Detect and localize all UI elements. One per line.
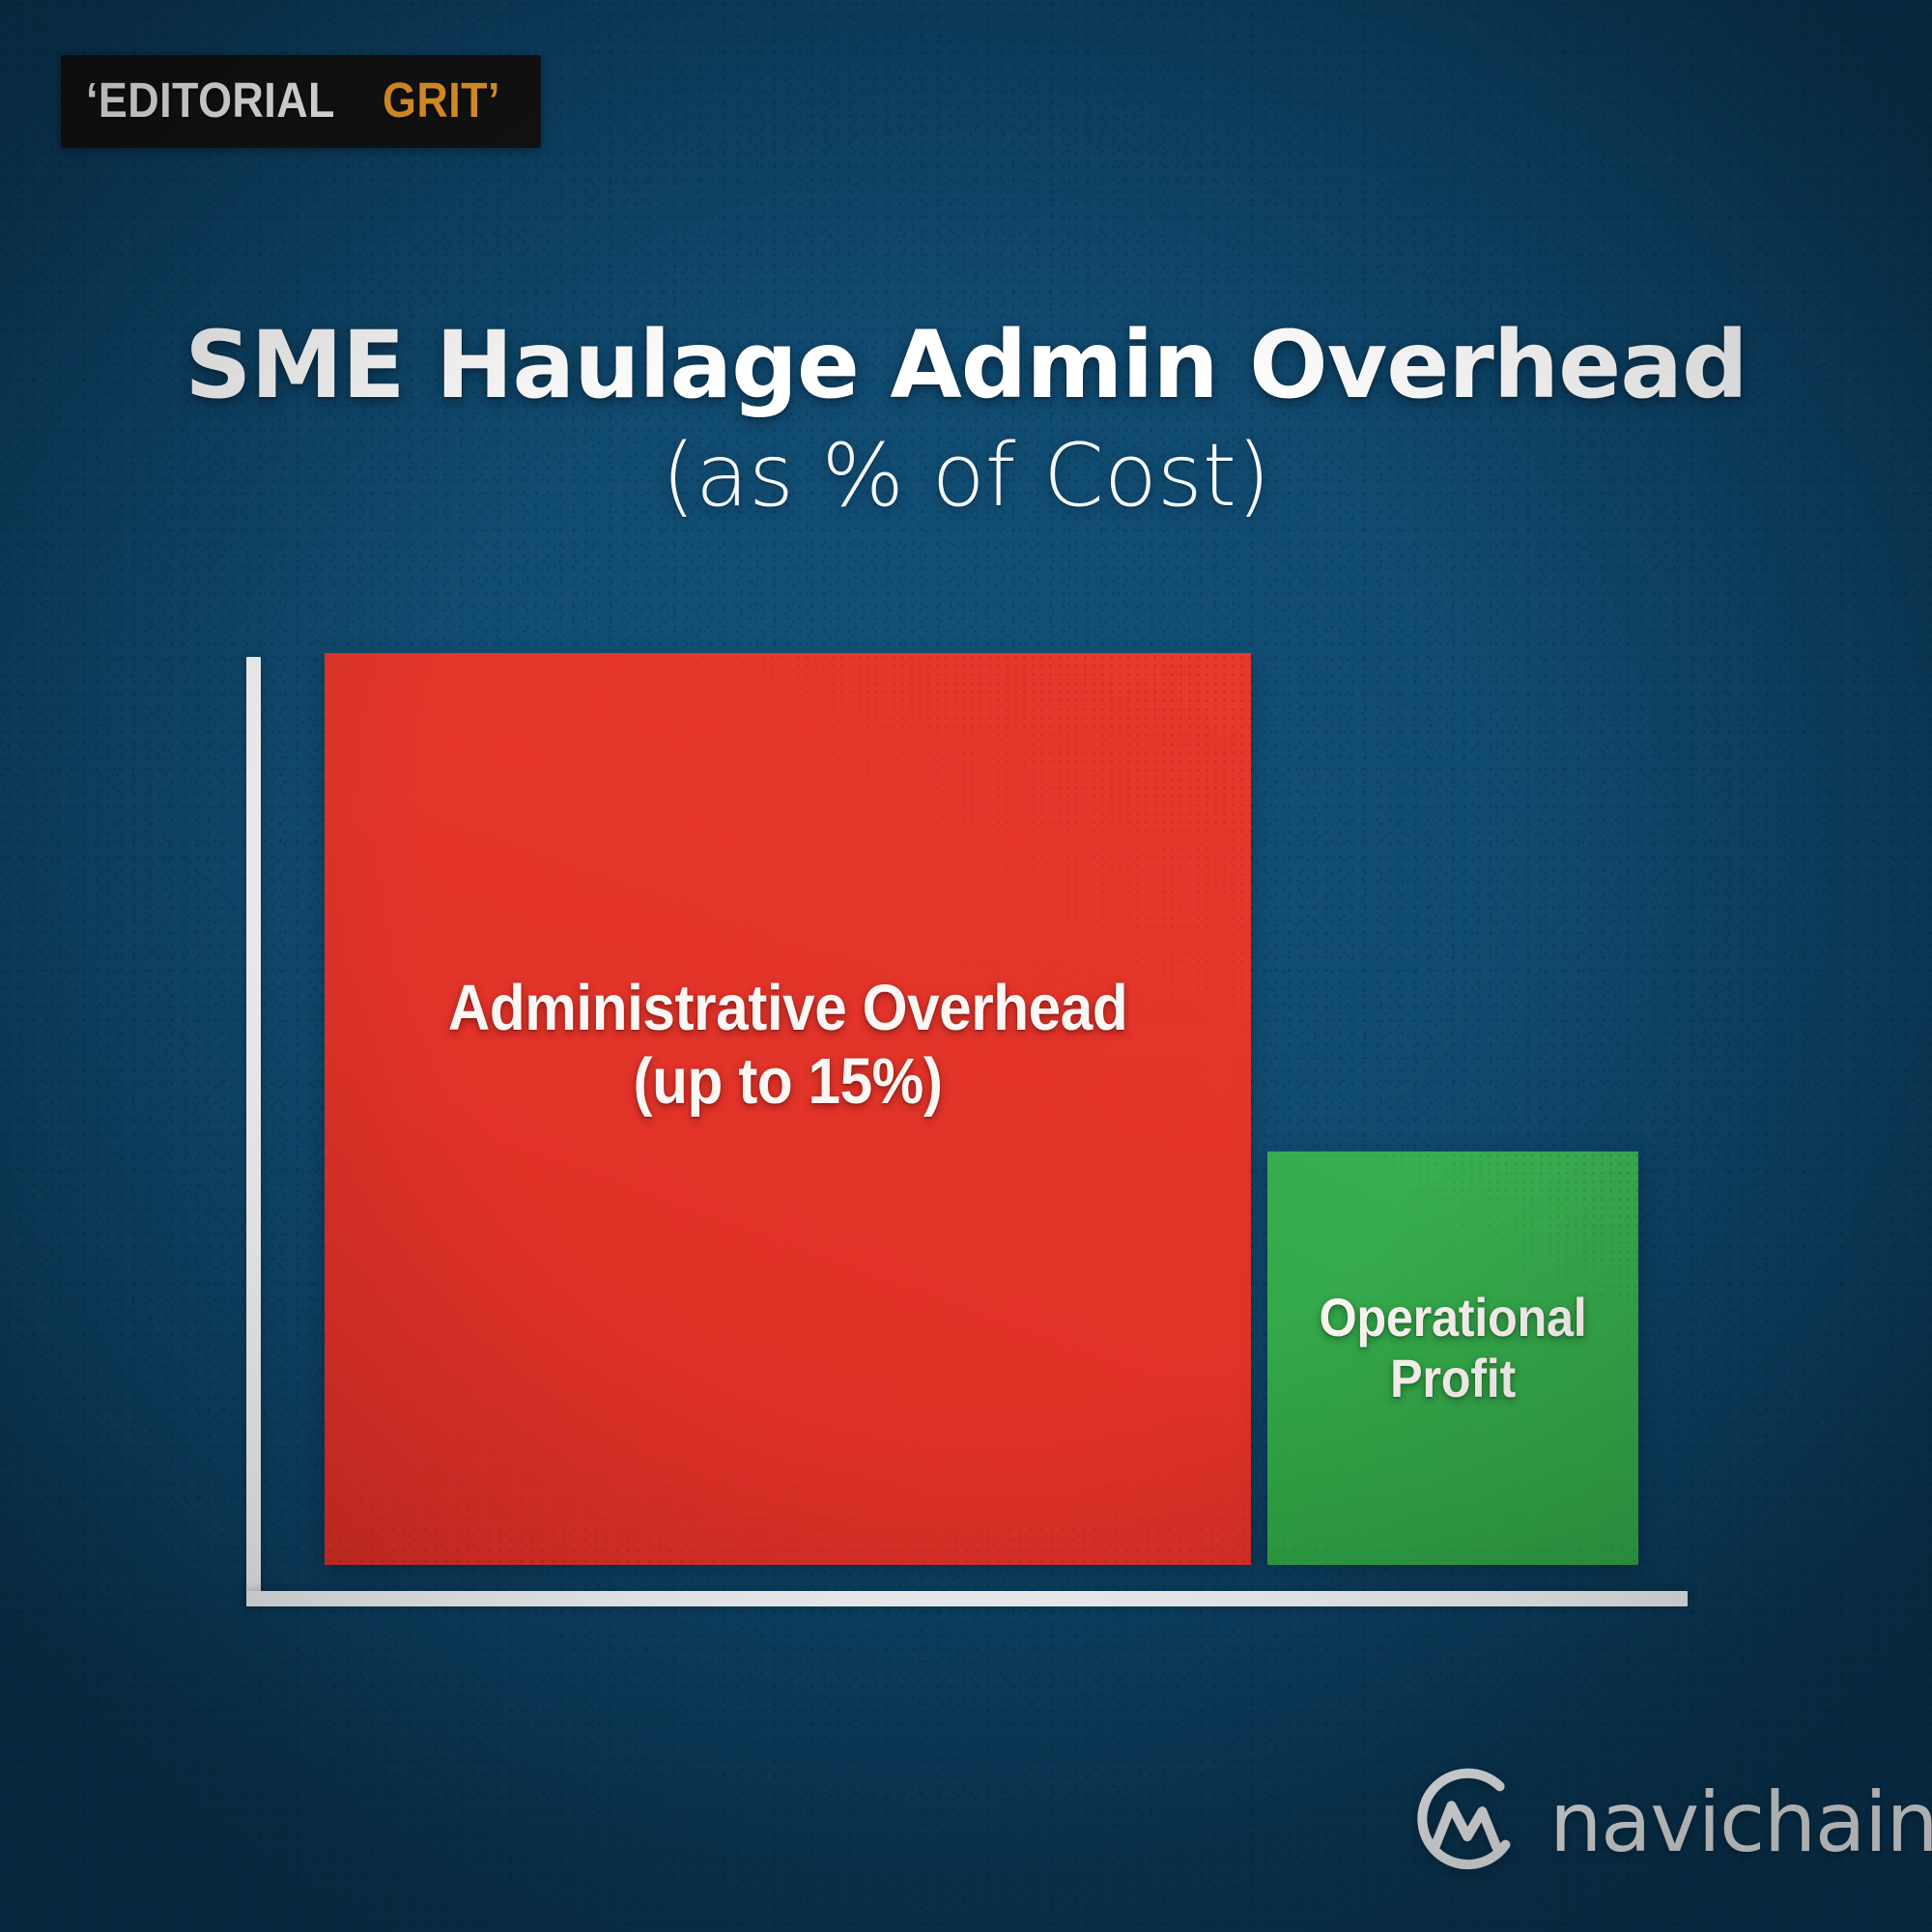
brand-wordmark: navichain bbox=[1549, 1775, 1932, 1871]
y-axis-line bbox=[246, 657, 261, 1605]
x-axis-line bbox=[246, 1591, 1688, 1606]
bar-operational-profit[interactable]: Operational Profit bbox=[1267, 1151, 1638, 1565]
bar-administrative-overhead[interactable]: Administrative Overhead (up to 15%) bbox=[325, 653, 1251, 1565]
bar-label-operational-profit: Operational Profit bbox=[1286, 1287, 1620, 1409]
bar-label-administrative-overhead: Administrative Overhead (up to 15%) bbox=[371, 972, 1205, 1118]
bar-label-line-1: Operational bbox=[1286, 1287, 1620, 1348]
bar-chart: Administrative Overhead (up to 15%) Oper… bbox=[0, 0, 1932, 1932]
bar-label-line-1: Administrative Overhead bbox=[371, 972, 1205, 1045]
bar-label-line-2: Profit bbox=[1286, 1348, 1620, 1408]
brand-logo: navichain bbox=[1410, 1766, 1932, 1880]
infographic-canvas: ‘EDITORIAL GRIT’ SME Haulage Admin Overh… bbox=[0, 0, 1932, 1932]
navichain-circle-monogram-icon bbox=[1410, 1766, 1524, 1880]
bar-label-line-2: (up to 15%) bbox=[371, 1045, 1205, 1119]
